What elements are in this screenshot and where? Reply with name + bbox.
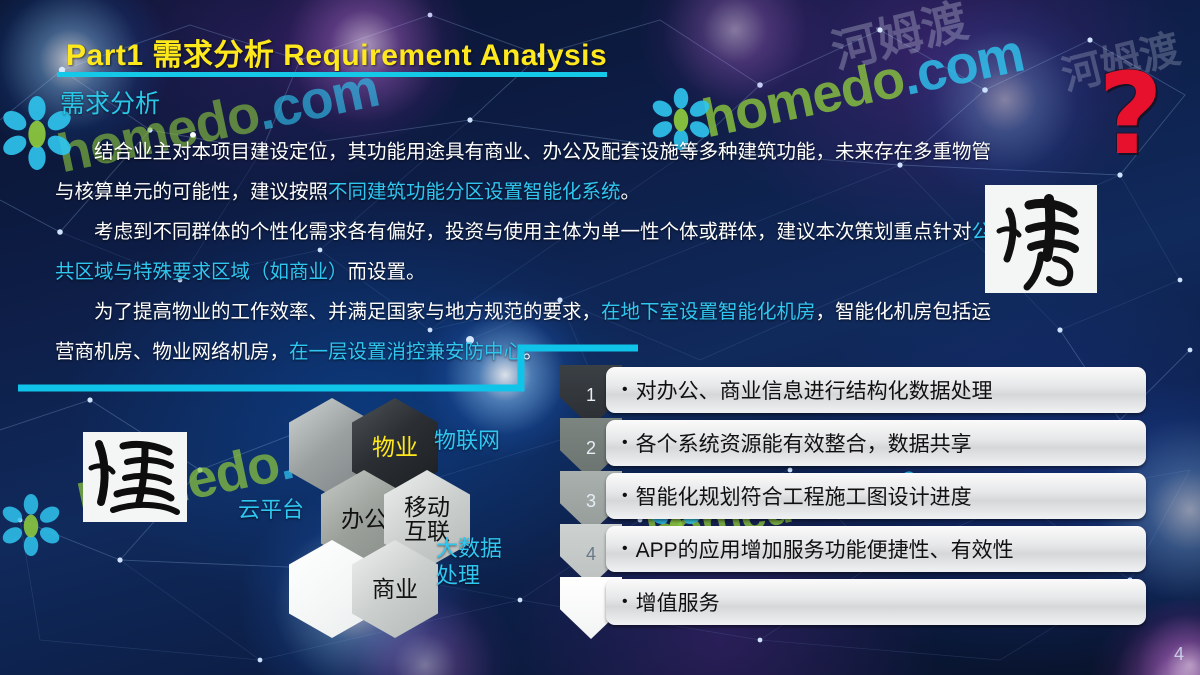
paragraph-text: 。 (621, 181, 641, 203)
list-item-text: 各个系统资源能有效整合，数据共享 (636, 428, 972, 458)
body-paragraph: 结合业主对本项目建设定位，其功能用途具有商业、办公及配套设施等多种建筑功能，未来… (55, 132, 1000, 212)
bullet-glyph-icon: • (622, 594, 628, 610)
list-step-number: 1 (586, 385, 596, 406)
list-item-text: 智能化规划符合工程施工图设计进度 (636, 481, 972, 511)
list-item-text: APP的应用增加服务功能便捷性、有效性 (636, 534, 1014, 564)
bullet-glyph-icon: • (622, 488, 628, 504)
list-step-number: 3 (586, 491, 596, 512)
list-step-number: 2 (586, 438, 596, 459)
paragraph-text: 而设置。 (348, 261, 426, 283)
homedo-flower-logo-icon (0, 494, 62, 556)
body-paragraph: 考虑到不同群体的个性化需求各有偏好，投资与使用主体为单一性个体或群体，建议本次策… (55, 212, 1000, 292)
bullet-glyph-icon: • (622, 382, 628, 398)
bullet-glyph-icon: • (622, 435, 628, 451)
list-item[interactable]: •增值服务 (606, 579, 1146, 625)
list-step-number: 4 (586, 544, 596, 565)
list-item[interactable]: •各个系统资源能有效整合，数据共享 (606, 420, 1146, 466)
highlighted-text: 在地下室设置智能化机房 (601, 301, 816, 323)
paragraph-text: 为了提高物业的工作效率、并满足国家与地方规范的要求， (94, 301, 601, 323)
page-subtitle: 需求分析 (60, 84, 160, 120)
hexagon-label: 商业 (372, 577, 418, 601)
list-item-text: 对办公、商业信息进行结构化数据处理 (636, 375, 993, 405)
page-number: 4 (1174, 644, 1184, 665)
title-underline-rule (57, 72, 607, 77)
calligraphy-seal-right (985, 185, 1097, 293)
list-item[interactable]: •APP的应用增加服务功能便捷性、有效性 (606, 526, 1146, 572)
highlighted-text: 不同建筑功能分区设置智能化系统 (328, 181, 621, 203)
cyan-connector-line (18, 340, 638, 400)
list-item-text: 增值服务 (636, 587, 720, 617)
list-item[interactable]: •智能化规划符合工程施工图设计进度 (606, 473, 1146, 519)
hexagon-label: 办公 (341, 507, 387, 531)
calligraphy-seal-left (83, 432, 187, 522)
hexagon-side-label: 云平台 (238, 497, 304, 524)
question-mark-icon: ? (1098, 68, 1163, 163)
slide-canvas: homedo.com homedo.com homedo.com homedo.… (0, 0, 1200, 675)
hexagon-side-label: 物联网 (434, 428, 500, 455)
hexagon-side-label: 大数据 处理 (436, 536, 502, 590)
page-title: Part1 需求分析 Requirement Analysis (66, 30, 607, 74)
paragraph-text: 考虑到不同群体的个性化需求各有偏好，投资与使用主体为单一性个体或群体，建议本次策… (94, 221, 972, 243)
body-paragraphs: 结合业主对本项目建设定位，其功能用途具有商业、办公及配套设施等多种建筑功能，未来… (55, 132, 1000, 372)
bullet-glyph-icon: • (622, 541, 628, 557)
list-item[interactable]: •对办公、商业信息进行结构化数据处理 (606, 367, 1146, 413)
hexagon-label: 物业 (372, 435, 418, 459)
